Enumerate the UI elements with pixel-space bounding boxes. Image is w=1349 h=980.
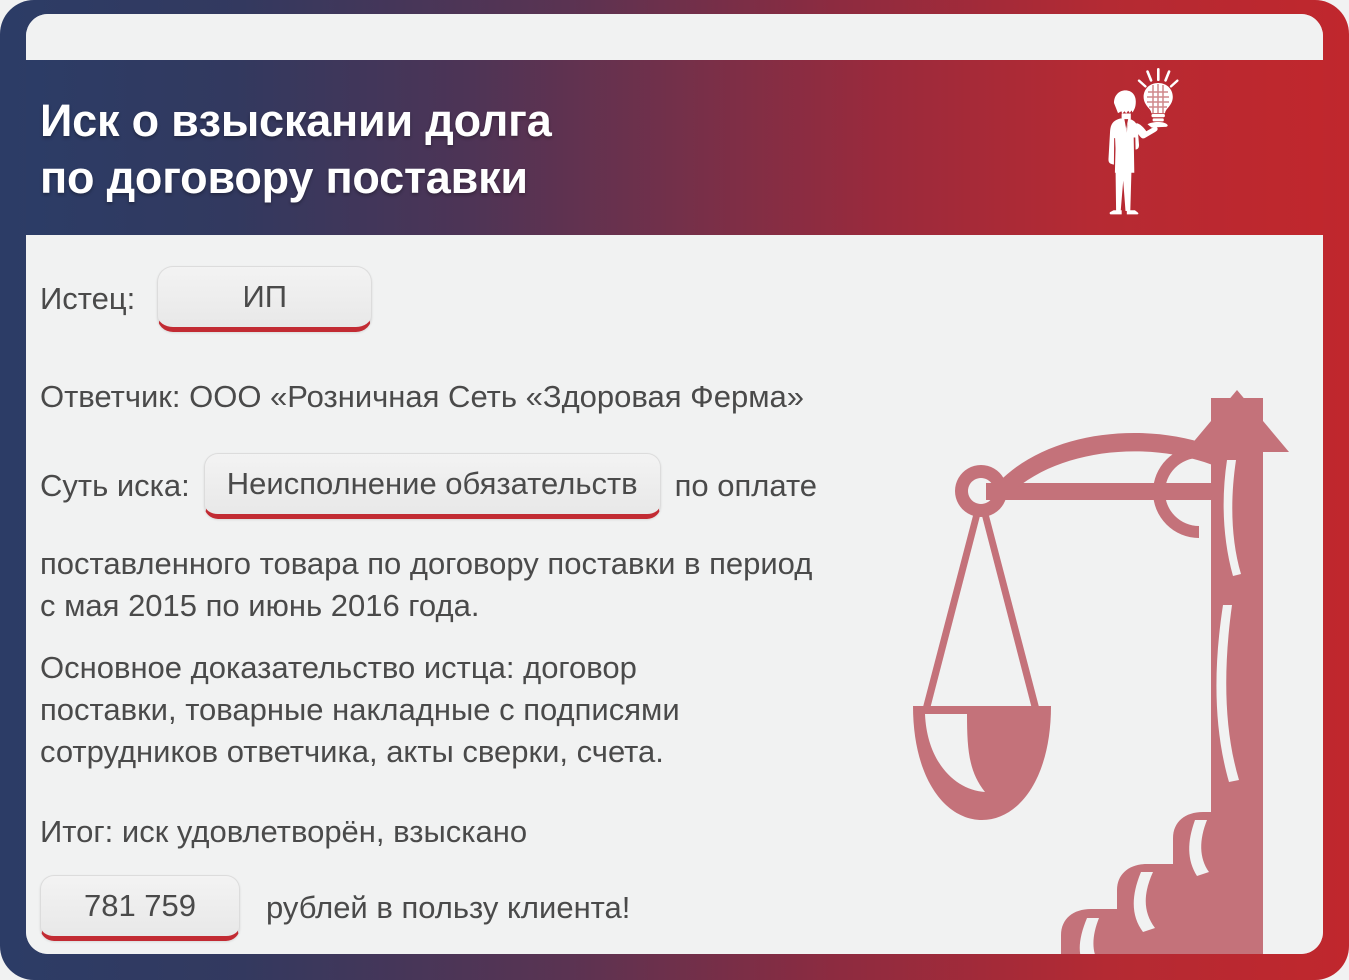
plaintiff-chip[interactable]: ИП — [157, 266, 372, 332]
case-card: Иск о взыскании долга по договору постав… — [0, 0, 1349, 980]
amount-suffix: рублей в пользу клиента! — [266, 888, 630, 929]
scales-of-justice-icon — [911, 390, 1323, 954]
plaintiff-label: Истец: — [40, 279, 135, 320]
top-blank-strip — [26, 14, 1323, 60]
businessman-with-lightbulb-icon — [1081, 66, 1191, 228]
card-header: Иск о взыскании долга по договору постав… — [26, 60, 1323, 235]
subject-chip[interactable]: Неисполнение обязательств — [204, 453, 661, 519]
evidence-paragraph: Основное доказательство истца: договор п… — [40, 647, 680, 773]
subject-label: Суть иска: — [40, 466, 190, 507]
subject-row: Суть иска: Неисполнение обязательств по … — [40, 453, 817, 519]
plaintiff-row: Истец: ИП — [40, 266, 372, 332]
result-line: Итог: иск удовлетворён, взыскано — [40, 812, 527, 853]
subject-suffix: по оплате — [675, 466, 817, 507]
card-body: Истец: ИП Ответчик: ООО «Розничная Сеть … — [26, 235, 1323, 954]
subject-continuation: поставленного товара по договору поставк… — [40, 543, 812, 627]
amount-row: 781 759 рублей в пользу клиента! — [40, 875, 630, 941]
amount-chip[interactable]: 781 759 — [40, 875, 240, 941]
page-title: Иск о взыскании долга по договору постав… — [40, 92, 552, 206]
defendant-line: Ответчик: ООО «Розничная Сеть «Здоровая … — [40, 377, 804, 418]
card-inner-panel: Иск о взыскании долга по договору постав… — [26, 14, 1323, 954]
